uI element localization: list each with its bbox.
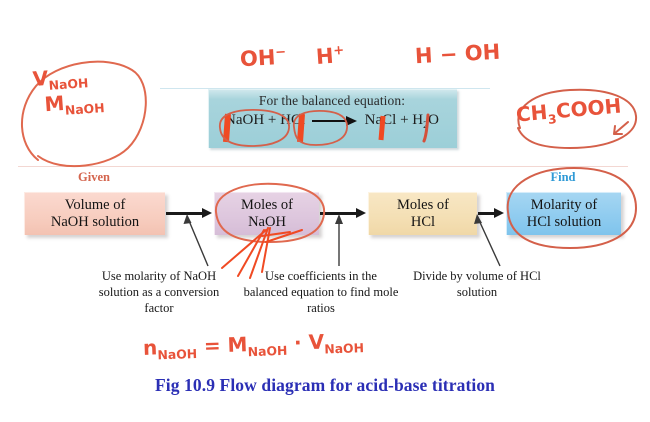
flow-box-line1: Volume of [51, 197, 139, 214]
annotation-banner-marks [212, 108, 456, 154]
annotation-hydroxide-charge: − [275, 45, 287, 61]
annotation-bottom-equation: nNaOH = MNaOH · VNaOH [143, 328, 365, 363]
flow-box-line2: NaOH solution [51, 214, 139, 231]
annotation-eq-equals: = [196, 333, 228, 358]
banner-title: For the balanced equation: [208, 93, 456, 109]
annotation-hydroxide: OH− [239, 45, 287, 71]
annotation-m: M [44, 91, 66, 116]
annotation-eq-n-sub: NaOH [157, 346, 197, 362]
annotation-acetic-rest: COOH [555, 93, 622, 123]
annotation-eq-m-sub: NaOH [247, 343, 287, 359]
flow-box-moles-hcl: Moles of HCl [368, 192, 477, 235]
annotation-hydroxide-text: OH [239, 45, 276, 71]
annotation-eq-n: n [143, 335, 158, 359]
annotation-hydrogen-charge: + [333, 43, 345, 59]
annotation-eq-v-sub: NaOH [324, 340, 364, 356]
given-label: Given [24, 170, 164, 185]
flow-box-line2: HCl [397, 214, 449, 231]
annotation-eq-v: V [308, 330, 324, 355]
annotation-circle-find [494, 160, 646, 260]
annotation-circle-moles-naoh [204, 180, 340, 286]
annotation-v-m-naoh: VNaOH MNaOH [32, 60, 155, 120]
annotation-water: H − OH [414, 40, 500, 68]
annotation-eq-m: M [227, 332, 248, 357]
annotation-v: V [32, 66, 49, 91]
figure-caption: Fig 10.9 Flow diagram for acid-base titr… [0, 375, 650, 396]
flow-box-line1: Moles of [397, 197, 449, 214]
flow-box-volume-naoh: Volume of NaOH solution [24, 192, 165, 235]
caption-divide-volume: Divide by volume of HCl solution [406, 268, 548, 300]
annotation-hydrogen-text: H [315, 44, 334, 69]
figure-canvas: For the balanced equation: NaOH + HCl Na… [0, 0, 650, 422]
annotation-eq-dot: · [287, 330, 309, 355]
annotation-acetic-ch: CH [515, 100, 548, 127]
annotation-m-sub: NaOH [64, 100, 105, 118]
annotation-hydrogen: H+ [315, 43, 345, 69]
